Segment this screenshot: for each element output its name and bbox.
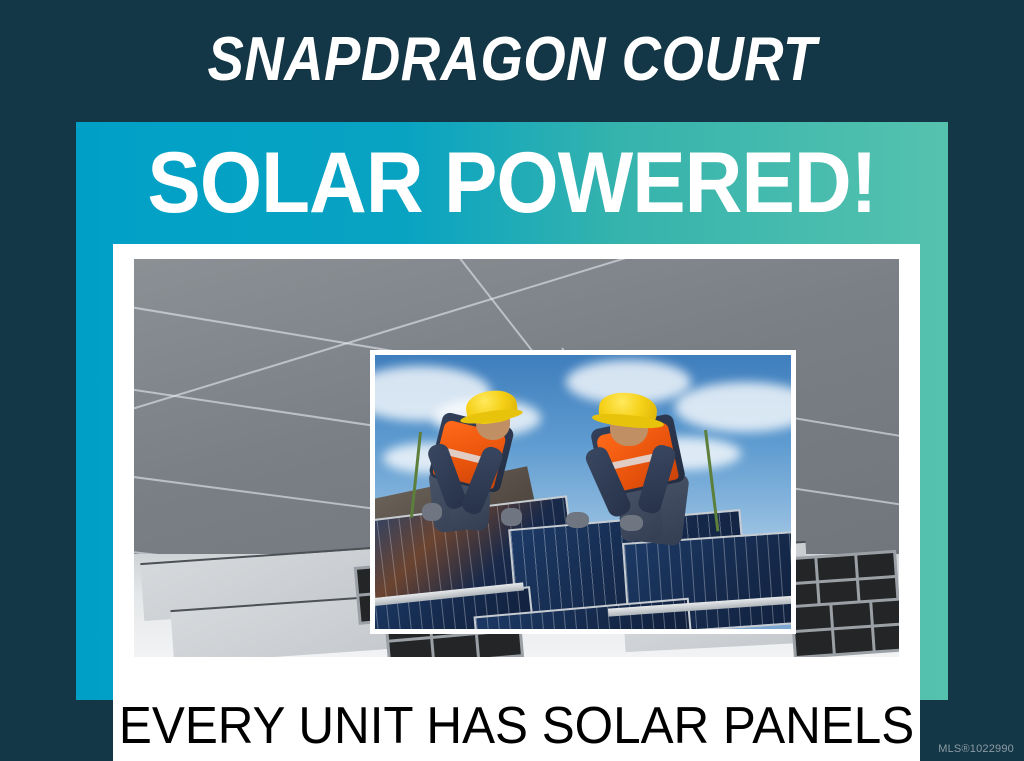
caption: EVERY UNIT HAS SOLAR PANELS xyxy=(119,696,914,756)
headline-band: SOLAR POWERED! xyxy=(76,122,948,244)
listing-photo-slide: SNAPDRAGON COURT SOLAR POWERED! xyxy=(0,0,1024,761)
safety-lanyard xyxy=(410,432,422,518)
worker-left xyxy=(412,391,570,550)
glove xyxy=(501,508,522,525)
headline: SOLAR POWERED! xyxy=(147,140,876,226)
solar-cell-grid xyxy=(790,597,899,657)
glove xyxy=(422,503,443,520)
solar-installers-photo xyxy=(375,355,791,629)
page-title: SNAPDRAGON COURT xyxy=(207,24,816,95)
mls-watermark: MLS®1022990 xyxy=(938,743,1014,755)
caption-panel: EVERY UNIT HAS SOLAR PANELS xyxy=(113,672,920,761)
glove xyxy=(566,512,589,528)
content-card: SOLAR POWERED! xyxy=(76,122,948,700)
slide-title-bar: SNAPDRAGON COURT xyxy=(0,0,1024,118)
worker-right xyxy=(554,393,729,557)
safety-lanyard xyxy=(704,429,720,531)
inset-photo-frame xyxy=(370,350,796,634)
glove xyxy=(620,515,643,531)
